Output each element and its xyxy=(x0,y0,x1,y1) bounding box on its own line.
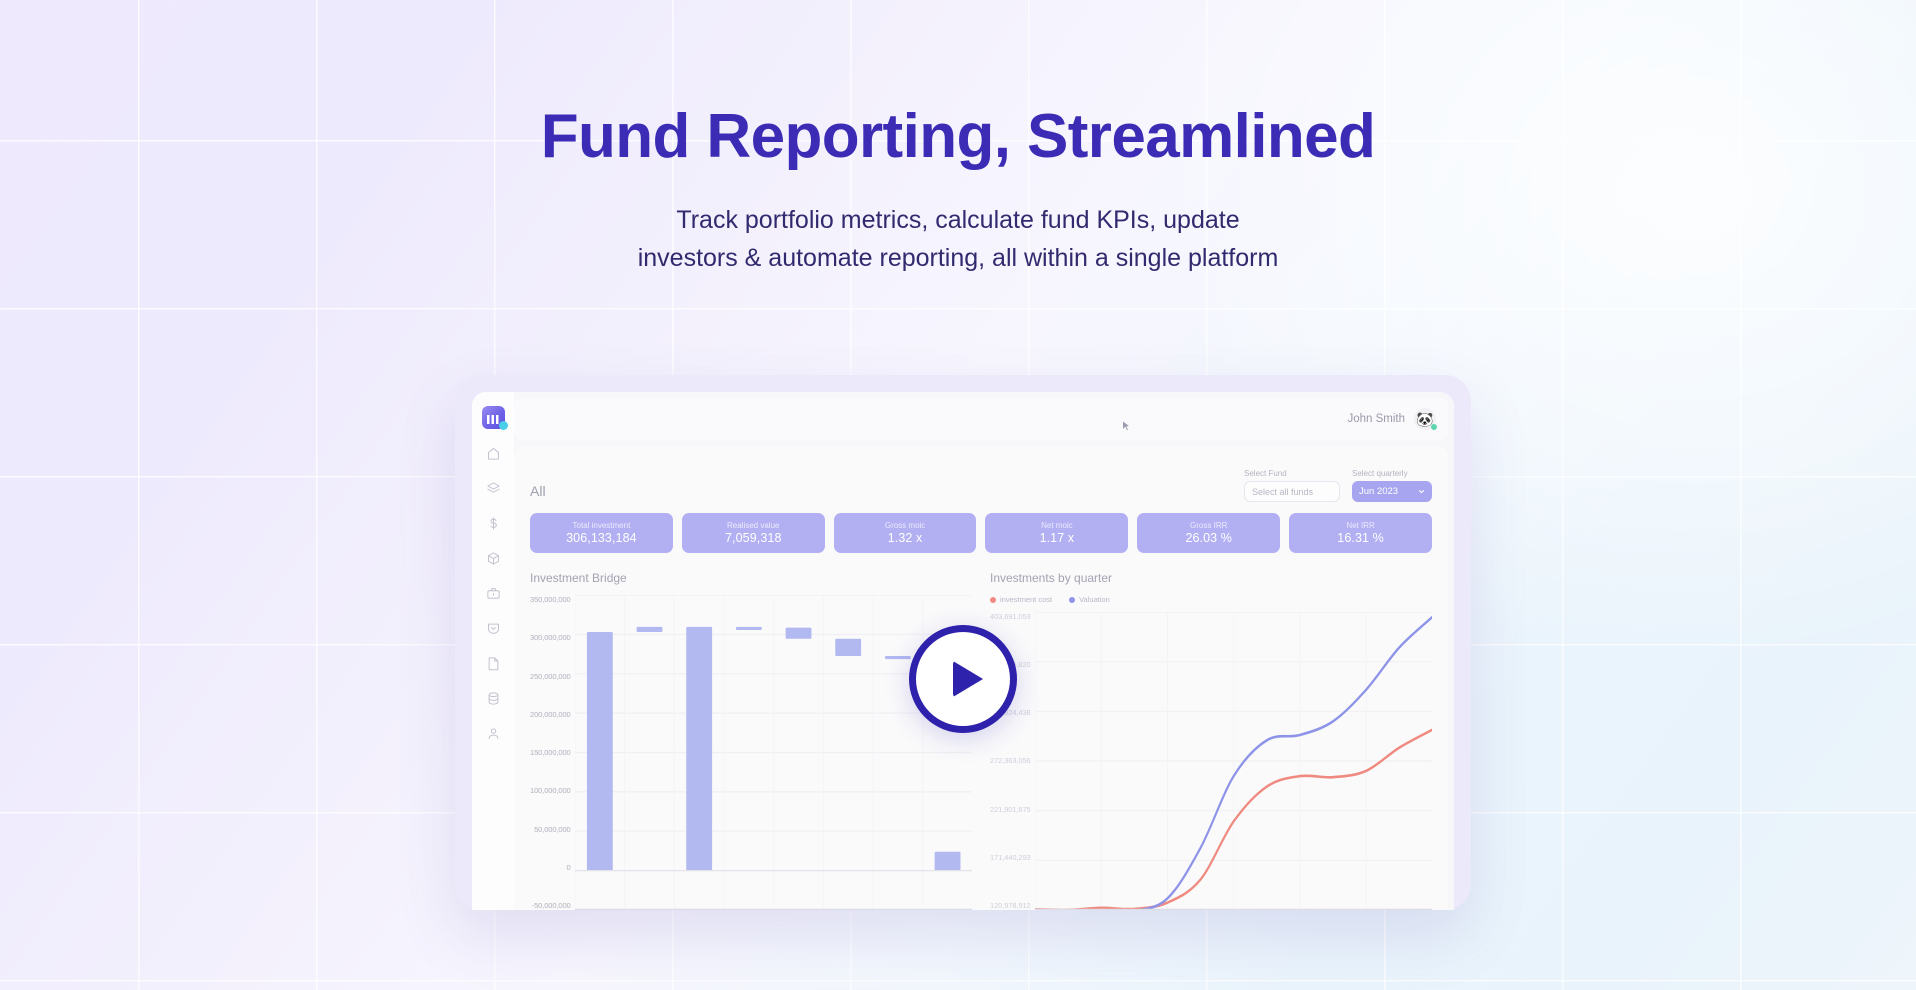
user-name-label: John Smith xyxy=(1347,413,1405,425)
avatar[interactable]: 🐼 xyxy=(1414,408,1436,430)
kpi-label: Gross moic xyxy=(885,521,925,530)
fund-filter-group: Select Fund Select all funds xyxy=(1244,469,1340,502)
sidebar-item-home[interactable] xyxy=(482,442,504,464)
legend-item-investment-cost: investment cost xyxy=(990,595,1052,604)
kpi-card-gross-moic[interactable]: Gross moic 1.32 x xyxy=(834,513,977,553)
kpi-label: Realised value xyxy=(727,521,779,530)
sidebar-item-layers[interactable] xyxy=(482,477,504,499)
dashboard-device-frame: John Smith 🐼 All Select Fund xyxy=(455,375,1471,910)
kpi-value: 16.31 % xyxy=(1337,531,1384,545)
y-axis-tick: -50,000,000 xyxy=(532,901,571,910)
legend-color-swatch xyxy=(1069,597,1075,603)
kpi-value: 26.03 % xyxy=(1185,531,1232,545)
sidebar-item-profile[interactable] xyxy=(482,722,504,744)
y-axis-tick: 0 xyxy=(567,863,571,872)
chart-title: Investments by quarter xyxy=(990,571,1432,585)
legend-label: investment cost xyxy=(1000,595,1052,604)
kpi-label: Total investment xyxy=(573,521,631,530)
kpi-card-realised-value[interactable]: Realised value 7,059,318 xyxy=(682,513,825,553)
kpi-card-net-moic[interactable]: Net moic 1.17 x xyxy=(985,513,1128,553)
database-icon xyxy=(486,691,501,706)
y-axis-tick: 250,000,000 xyxy=(530,672,571,681)
chevron-down-icon xyxy=(1418,488,1425,495)
dollar-icon xyxy=(486,516,501,531)
shield-chevron-icon xyxy=(486,621,501,636)
kpi-label: Gross IRR xyxy=(1190,521,1227,530)
fund-select-placeholder: Select all funds xyxy=(1252,487,1313,497)
y-axis-labels-left: 350,000,000300,000,000250,000,000200,000… xyxy=(530,595,575,910)
document-icon xyxy=(486,656,501,671)
sidebar-item-finance[interactable] xyxy=(482,512,504,534)
hero-subtitle-line-2: investors & automate reporting, all with… xyxy=(638,244,1279,272)
kpi-card-net-irr[interactable]: Net IRR 16.31 % xyxy=(1289,513,1432,553)
fund-filter-label: Select Fund xyxy=(1244,469,1340,478)
kpi-value: 1.32 x xyxy=(888,531,923,545)
y-axis-tick: 171,440,293 xyxy=(990,853,1031,862)
sidebar-item-compliance[interactable] xyxy=(482,617,504,639)
kpi-value: 7,059,318 xyxy=(725,531,782,545)
box-icon xyxy=(486,551,501,566)
hero-section: Fund Reporting, Streamlined Track portfo… xyxy=(0,104,1916,277)
home-icon xyxy=(486,446,501,461)
y-axis-tick: 350,000,000 xyxy=(530,595,571,604)
play-icon xyxy=(953,661,983,697)
kpi-label: Net moic xyxy=(1041,521,1073,530)
charts-row: Investment Bridge 350,000,000300,000,000… xyxy=(530,571,1432,910)
chart-title: Investment Bridge xyxy=(530,571,972,585)
y-axis-tick: 50,000,000 xyxy=(534,825,571,834)
panel-header: All Select Fund Select all funds Select … xyxy=(530,460,1432,502)
quarter-select-dropdown[interactable]: Jun 2023 xyxy=(1352,481,1432,502)
online-status-dot xyxy=(1431,424,1437,430)
kpi-card-total-investment[interactable]: Total investment 306,133,184 xyxy=(530,513,673,553)
chart-legend: investment cost Valuation xyxy=(990,595,1432,604)
y-axis-tick: 100,000,000 xyxy=(530,786,571,795)
briefcase-icon xyxy=(486,586,501,601)
legend-label: Valuation xyxy=(1079,595,1110,604)
y-axis-tick: 221,901,675 xyxy=(990,805,1031,814)
filters: Select Fund Select all funds Select quar… xyxy=(1244,469,1432,502)
sidebar-item-assets[interactable] xyxy=(482,547,504,569)
page-title: Fund Reporting, Streamlined xyxy=(0,104,1916,171)
chart-investment-bridge: Investment Bridge 350,000,000300,000,000… xyxy=(530,571,972,910)
play-video-button[interactable] xyxy=(909,625,1017,733)
hero-subtitle: Track portfolio metrics, calculate fund … xyxy=(0,201,1916,277)
sidebar-item-data[interactable] xyxy=(482,687,504,709)
quarter-filter-label: Select quarterly xyxy=(1352,469,1432,478)
kpi-cards: Total investment 306,133,184 Realised va… xyxy=(530,513,1432,553)
kpi-label: Net IRR xyxy=(1346,521,1374,530)
y-axis-tick: 300,000,000 xyxy=(530,633,571,642)
topbar: John Smith 🐼 xyxy=(514,398,1448,440)
quarter-filter-group: Select quarterly Jun 2023 xyxy=(1352,469,1432,502)
app-logo-icon[interactable] xyxy=(482,406,505,429)
sidebar xyxy=(472,392,514,910)
y-axis-tick: 150,000,000 xyxy=(530,748,571,757)
legend-item-valuation: Valuation xyxy=(1069,595,1110,604)
kpi-card-gross-irr[interactable]: Gross IRR 26.03 % xyxy=(1137,513,1280,553)
layers-icon xyxy=(486,481,501,496)
quarter-select-value: Jun 2023 xyxy=(1359,486,1398,497)
plot-area-right xyxy=(1035,612,1432,910)
sidebar-item-documents[interactable] xyxy=(482,652,504,674)
y-axis-tick: 120,978,912 xyxy=(990,901,1031,910)
plot-area-left xyxy=(575,595,972,910)
chart-investments-by-quarter: Investments by quarter investment cost V… xyxy=(990,571,1432,910)
kpi-value: 1.17 x xyxy=(1040,531,1075,545)
fund-select-input[interactable]: Select all funds xyxy=(1244,481,1340,502)
plot-investments-by-quarter: 403,691,053373,285,820322,824,438272,363… xyxy=(990,612,1432,910)
sidebar-item-portfolio[interactable] xyxy=(482,582,504,604)
legend-color-swatch xyxy=(990,597,996,603)
panel-title: All xyxy=(530,483,546,502)
kpi-value: 306,133,184 xyxy=(566,531,637,545)
hero-subtitle-line-1: Track portfolio metrics, calculate fund … xyxy=(676,206,1239,234)
y-axis-tick: 403,691,053 xyxy=(990,612,1031,621)
plot-investment-bridge: 350,000,000300,000,000250,000,000200,000… xyxy=(530,595,972,910)
user-icon xyxy=(486,726,501,741)
y-axis-tick: 272,363,056 xyxy=(990,756,1031,765)
y-axis-tick: 200,000,000 xyxy=(530,710,571,719)
page-root: Fund Reporting, Streamlined Track portfo… xyxy=(0,0,1916,990)
mouse-cursor-icon xyxy=(1122,420,1131,433)
